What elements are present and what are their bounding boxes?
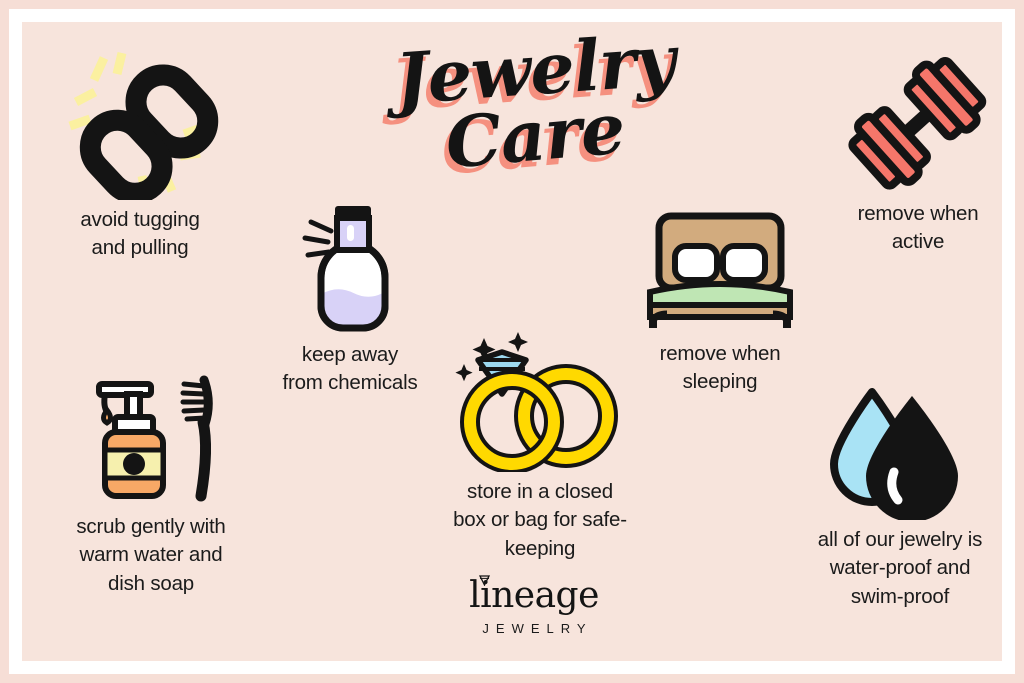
tip-caption-scrub: scrub gently withwarm water anddish soap [40, 513, 262, 598]
tip-card-active: remove whenactive [808, 54, 1002, 257]
tip-card-water: all of our jewelry iswater-proof andswim… [784, 380, 1002, 611]
poster-canvas: Jewelry Care [0, 0, 1024, 683]
wedding-rings-icon [450, 322, 630, 472]
tip-card-scrub: scrub gently withwarm water anddish soap [40, 362, 262, 598]
brand-logo: lineage JEWELRY [434, 578, 634, 636]
poster-inner-panel: Jewelry Care [22, 22, 1002, 661]
tip-caption-store: store in a closedbox or bag for safe-kee… [414, 478, 666, 563]
title-line-care: Care [338, 88, 732, 186]
tip-caption-active: remove whenactive [808, 200, 1002, 257]
tip-caption-tugging: avoid tuggingand pulling [30, 206, 250, 263]
brand-tagline: JEWELRY [434, 621, 634, 636]
perfume-bottle-icon [275, 200, 425, 335]
broken-chain-icon [60, 50, 220, 200]
water-drops-icon [820, 380, 980, 520]
bed-icon [635, 204, 805, 334]
dumbbell-icon [838, 54, 998, 194]
page-title: Jewelry Care [340, 38, 730, 169]
poster-white-frame: Jewelry Care [9, 9, 1015, 674]
diamond-icon [478, 575, 491, 586]
soap-and-toothbrush-icon [71, 362, 231, 507]
title-line-jewelry: Jewelry [338, 24, 732, 115]
tip-card-store: store in a closedbox or bag for safe-kee… [414, 322, 666, 563]
brand-name: lineage [434, 578, 634, 614]
tip-caption-water: all of our jewelry iswater-proof andswim… [784, 526, 1002, 611]
tip-card-tugging: avoid tuggingand pulling [30, 50, 250, 263]
